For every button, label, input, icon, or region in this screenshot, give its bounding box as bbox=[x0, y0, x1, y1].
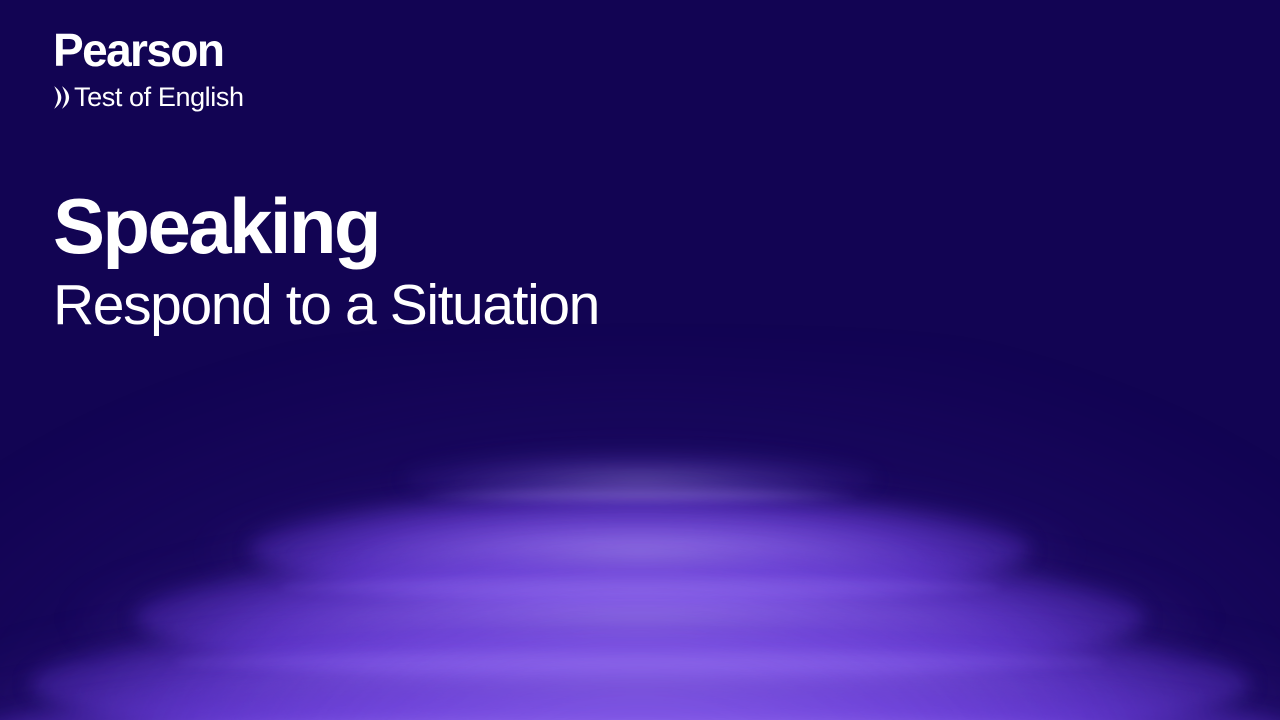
glow-arc-2-halo bbox=[203, 476, 1077, 621]
glow-arc-2 bbox=[250, 494, 1030, 604]
glow-arc-3-rim bbox=[175, 646, 1104, 680]
glow-arc-2-body bbox=[250, 494, 1030, 604]
glow-arc-4-halo bbox=[0, 594, 1280, 720]
glow-arc-4-body bbox=[30, 616, 1250, 720]
pearson-wordmark: Pearson bbox=[53, 27, 244, 73]
title-slide: Pearson Test of English Speaking Respond… bbox=[0, 0, 1280, 720]
sound-wave-icon bbox=[53, 85, 70, 110]
glow-arc-5-body bbox=[0, 676, 1280, 720]
glow-arc-3-halo bbox=[74, 531, 1205, 703]
brand-lockup: Test of English bbox=[53, 84, 244, 111]
glow-arc-4 bbox=[30, 616, 1250, 720]
glow-arc-1 bbox=[405, 452, 875, 506]
page-title: Speaking bbox=[53, 188, 599, 264]
title-block: Speaking Respond to a Situation bbox=[53, 188, 599, 336]
glow-arc-1-rim bbox=[424, 487, 856, 505]
brand-lockup-label: Test of English bbox=[74, 84, 244, 111]
brand-logo: Pearson Test of English bbox=[53, 27, 244, 111]
glow-arc-3-body bbox=[135, 552, 1145, 682]
glow-arc-3 bbox=[135, 552, 1145, 682]
glow-arc-4-rim bbox=[79, 714, 1201, 720]
glow-arc-5 bbox=[0, 676, 1280, 720]
glow-arc-1-halo bbox=[377, 443, 903, 514]
glow-arc-2-rim bbox=[281, 573, 999, 602]
glow-arc-5-halo bbox=[0, 652, 1280, 720]
glow-arc-1-body bbox=[405, 452, 875, 506]
glow-wash bbox=[0, 360, 1280, 720]
page-subtitle: Respond to a Situation bbox=[53, 276, 599, 336]
